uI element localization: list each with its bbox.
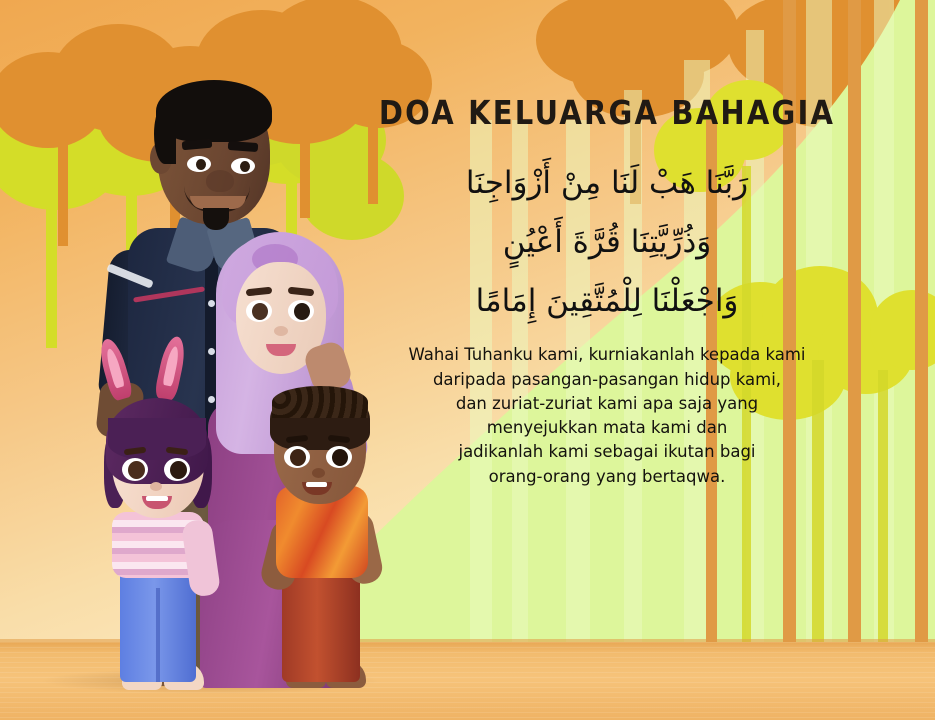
mother-nose (274, 326, 288, 336)
mother-iris-right (294, 303, 310, 320)
girl-nose (150, 482, 162, 491)
translation-line-5: jadikanlah kami sebagai ikutan bagi (372, 440, 842, 464)
mother-iris-left (252, 303, 268, 320)
girl-iris-left (128, 461, 145, 479)
boy-nose (312, 468, 325, 478)
poster-title: DOA KELUARGA BAHAGIA (372, 94, 842, 132)
boy-iris-right (332, 449, 348, 466)
translation-line-6: orang-orang yang bertaqwa. (372, 465, 842, 489)
father-pupil-left (196, 159, 206, 170)
boy-teeth (306, 482, 327, 487)
translation-block: Wahai Tuhanku kami, kurniakanlah kepada … (372, 343, 842, 489)
arabic-line-1: رَبَّنَا هَبْ لَنَا مِنْ أَزْوَاجِنَا (372, 160, 842, 207)
father-goatee (203, 208, 229, 230)
father-pupil-right (240, 161, 250, 172)
father-button-3 (208, 396, 215, 403)
translation-line-2: daripada pasangan-pasangan hidup kami, (372, 368, 842, 392)
girl-leg-split (156, 588, 160, 682)
text-panel: DOA KELUARGA BAHAGIA رَبَّنَا هَبْ لَنَا… (372, 96, 842, 489)
father-button-2 (208, 348, 215, 355)
girl-iris-right (170, 461, 187, 479)
arabic-dua-block: رَبَّنَا هَبْ لَنَا مِنْ أَزْوَاجِنَا وَ… (372, 160, 842, 325)
boy-iris-left (290, 449, 306, 466)
father-sideburn (154, 104, 176, 164)
arabic-line-2: وَذُرِّيَّتِنَا قُرَّةَ أَعْيُنٍ (372, 219, 842, 266)
girl-teeth (146, 496, 168, 501)
boy-hair-texture (272, 386, 368, 418)
translation-line-3: dan zuriat-zuriat kami apa saja yang (372, 392, 842, 416)
family-illustration: HASEM (0, 0, 400, 720)
girl-bangs (108, 418, 206, 460)
poster-canvas: HASEM (0, 0, 935, 720)
translation-line-4: menyejukkan mata kami dan (372, 416, 842, 440)
translation-line-1: Wahai Tuhanku kami, kurniakanlah kepada … (372, 343, 842, 367)
arabic-line-3: وَاجْعَلْنَا لِلْمُتَّقِينَ إِمَامًا (372, 278, 842, 325)
father-button-1 (208, 300, 215, 307)
